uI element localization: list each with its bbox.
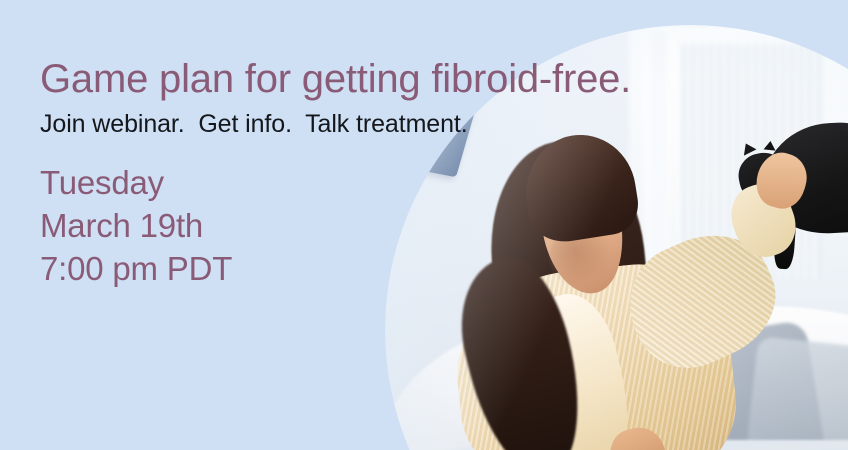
event-time: 7:00 pm PDT (40, 247, 232, 290)
event-date: March 19th (40, 204, 232, 247)
grey-pillow-right (744, 336, 848, 450)
event-datetime-block: Tuesday March 19th 7:00 pm PDT (40, 161, 232, 290)
woman-hair-front (518, 127, 643, 247)
subheadline: Join webinar. Get info. Talk treatment. (40, 111, 468, 139)
cat-ear-right (764, 140, 777, 150)
event-day: Tuesday (40, 161, 232, 204)
tablet-device (385, 25, 496, 178)
webinar-promo-banner: Game plan for getting fibroid-free. Join… (0, 0, 848, 450)
page-title: Game plan for getting fibroid-free. (40, 58, 631, 100)
